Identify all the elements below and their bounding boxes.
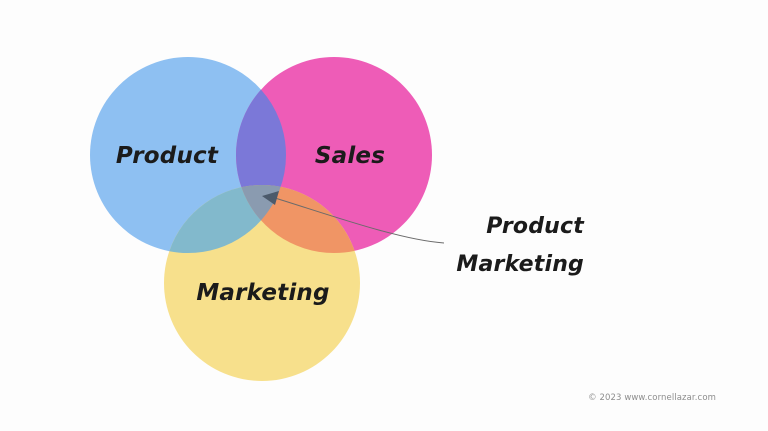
- callout-label-line1: Product: [486, 214, 585, 239]
- label-product: Product: [116, 143, 219, 169]
- venn-diagram: Product Sales Marketing Product Marketin…: [0, 0, 768, 431]
- label-marketing: Marketing: [196, 280, 329, 306]
- slide-canvas: Product Sales Marketing Product Marketin…: [0, 0, 768, 431]
- label-sales: Sales: [315, 143, 385, 169]
- callout-label-line2: Marketing: [456, 252, 584, 277]
- copyright-notice: © 2023 www.cornellazar.com: [588, 393, 716, 403]
